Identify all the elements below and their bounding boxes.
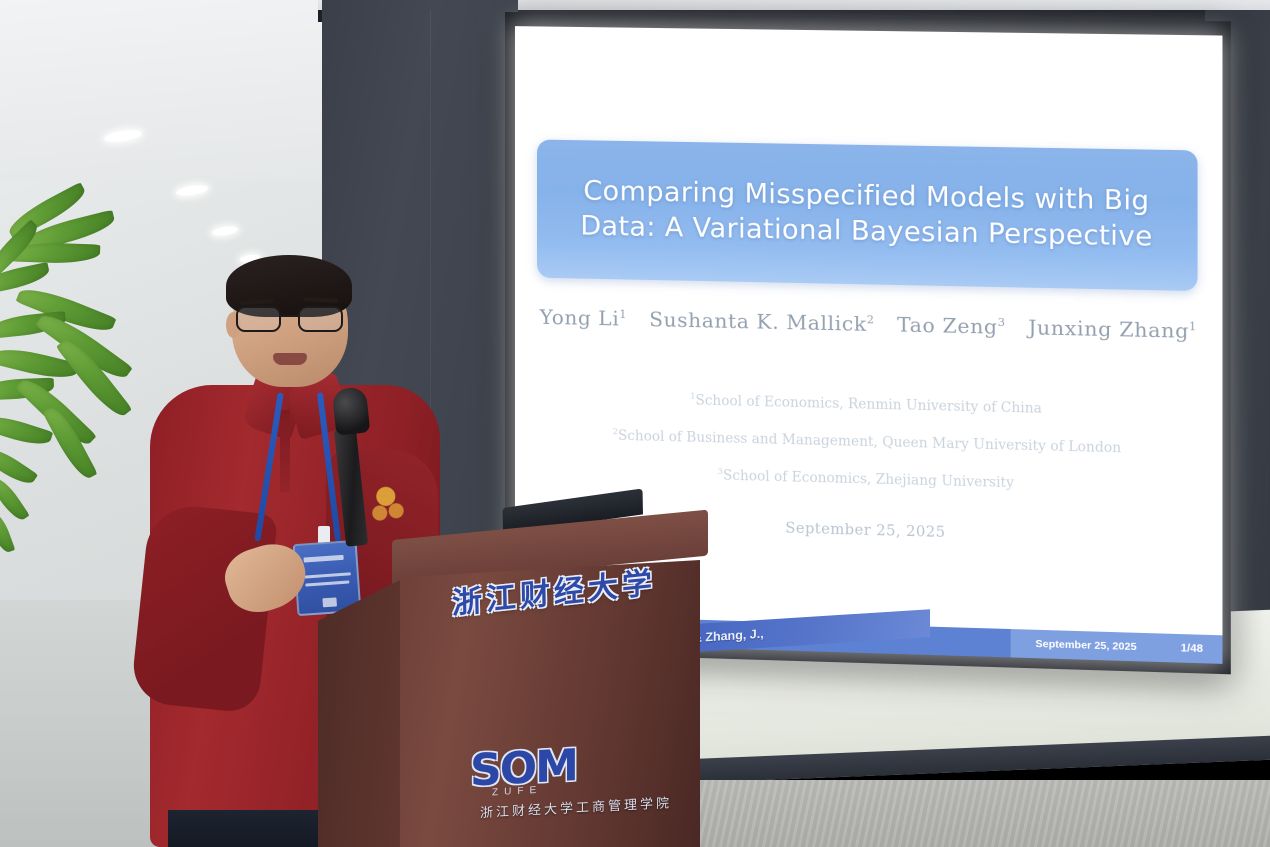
author-item: Junxing Zhang1 [1028, 315, 1197, 343]
author-item: Sushanta K. Mallick2 [649, 307, 874, 336]
footer-date-segment: September 25, 2025 [1011, 629, 1161, 662]
badge-line [305, 572, 351, 578]
footer-page-label: 1/48 [1181, 642, 1203, 655]
footer-page-segment: 1/48 [1161, 634, 1222, 664]
speaker-shirt-placket [280, 410, 290, 492]
author-item: Tao Zeng3 [897, 313, 1006, 340]
badge-line [322, 597, 337, 607]
glasses-lens-right [298, 306, 343, 332]
author-item: Yong Li1 [540, 305, 627, 331]
speaker-mouth [273, 353, 307, 365]
slide-title: Comparing Misspecified Models with Big D… [537, 174, 1198, 256]
footer-date-label: September 25, 2025 [1035, 638, 1136, 653]
author-affiliation-marker: 3 [998, 316, 1006, 329]
presentation-photo-scene: Comparing Misspecified Models with Big D… [0, 0, 1270, 847]
author-affiliation-marker: 1 [1189, 320, 1197, 333]
slide-title-box: Comparing Misspecified Models with Big D… [537, 139, 1198, 291]
speaker-glasses [234, 306, 346, 332]
author-affiliation-marker: 1 [619, 308, 627, 321]
author-list: Yong Li1Sushanta K. Mallick2Tao Zeng3Jun… [515, 305, 1222, 344]
plant-leaf [0, 510, 15, 555]
glasses-lens-left [236, 306, 281, 332]
plant-leaf [0, 442, 38, 489]
author-affiliation-marker: 2 [867, 313, 875, 326]
affiliation-list: 1School of Economics, Renmin University … [515, 379, 1222, 508]
glasses-bridge [281, 315, 298, 317]
shirt-chest-logo [360, 473, 414, 537]
podium-side-panel [318, 578, 404, 847]
badge-line [305, 580, 349, 586]
badge-line [304, 555, 344, 563]
